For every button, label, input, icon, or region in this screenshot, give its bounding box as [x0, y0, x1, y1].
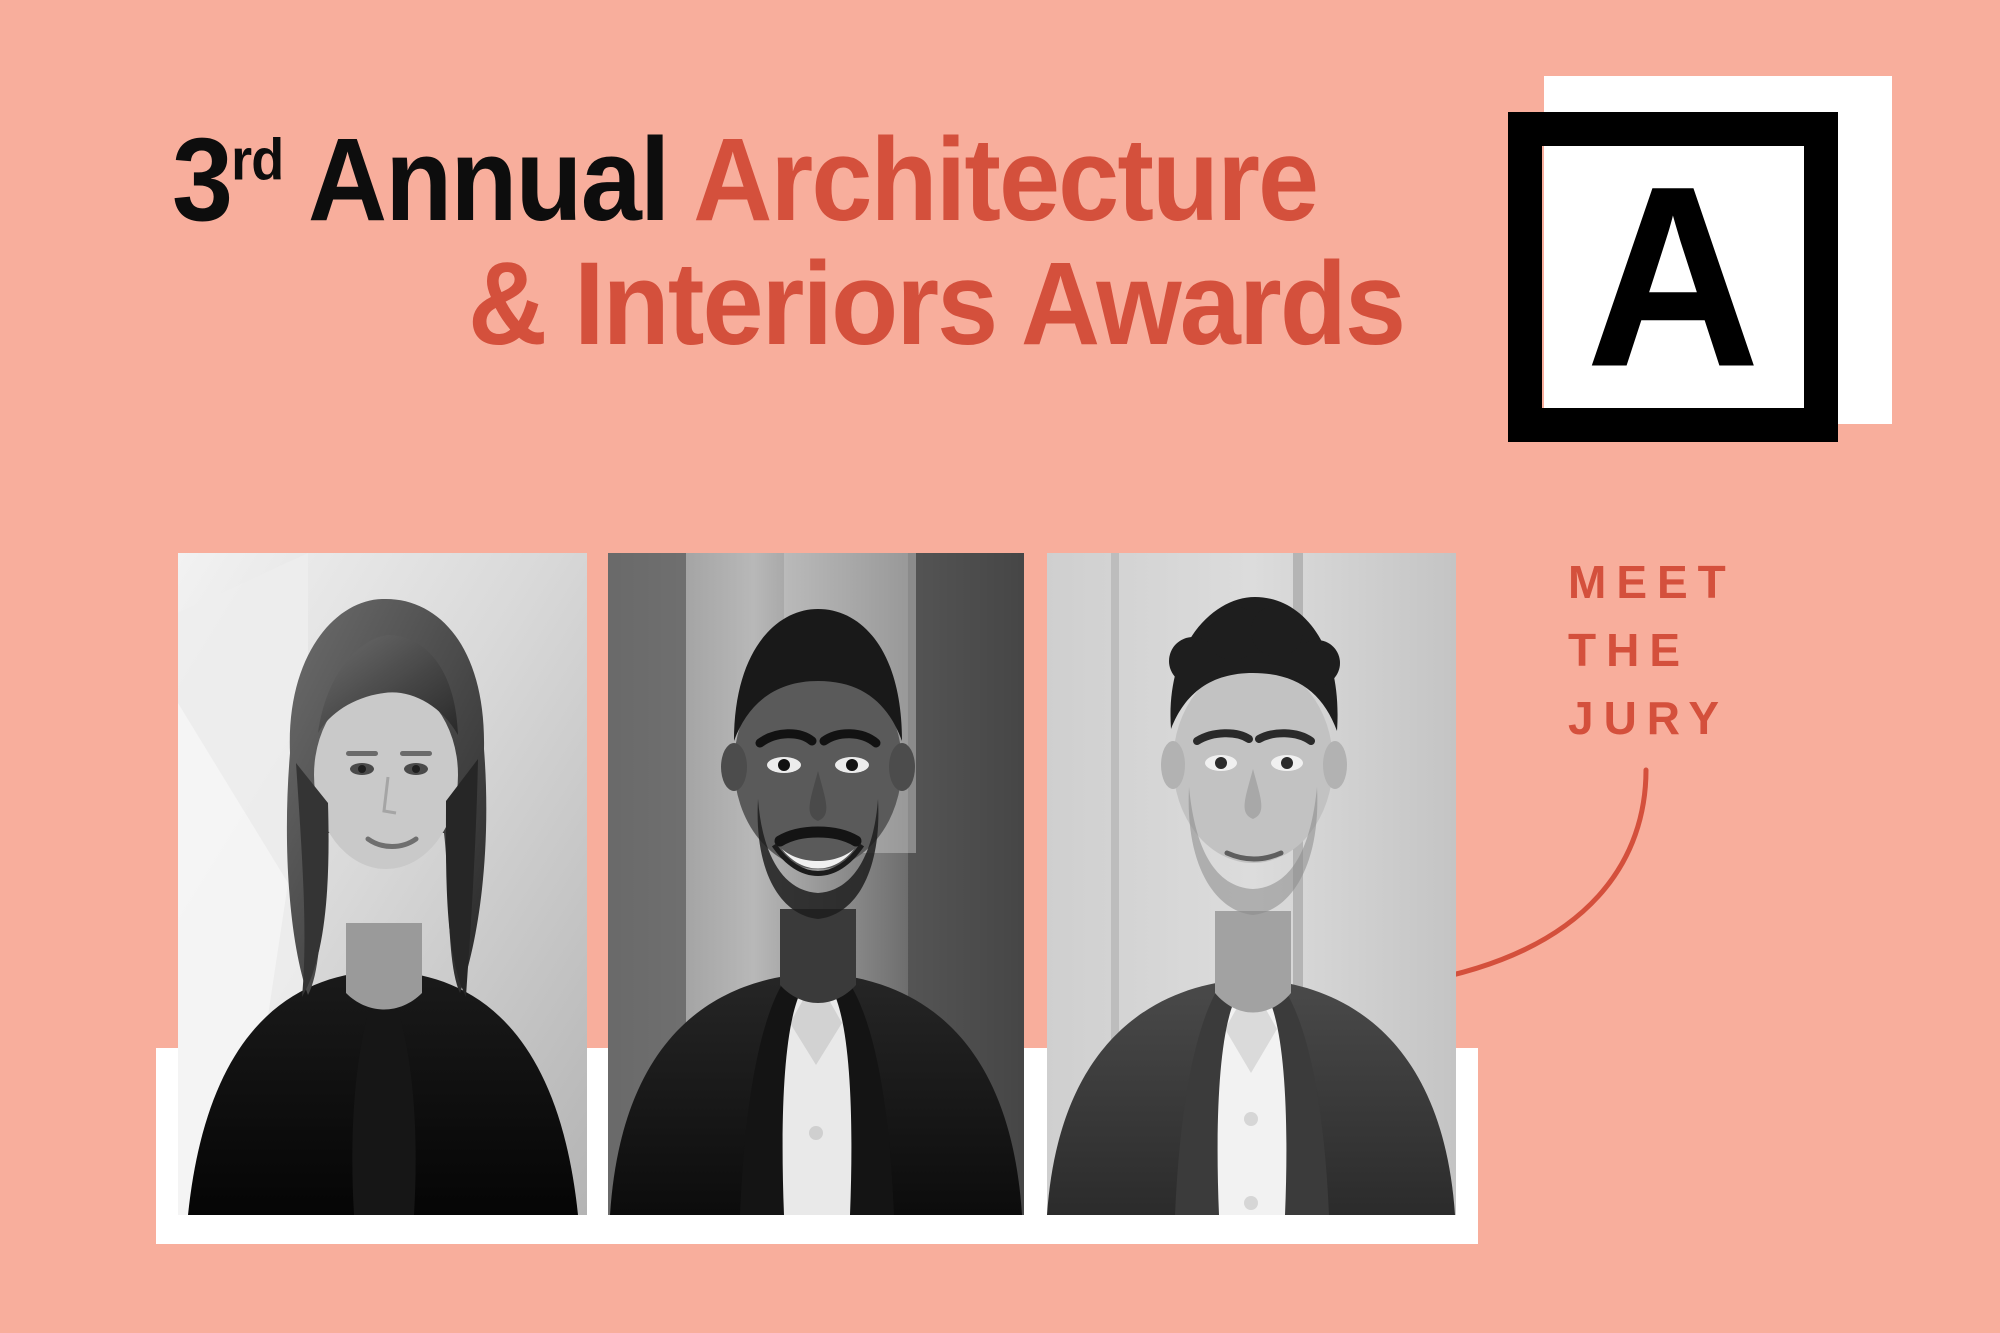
headline-ordinal-number: 3 [172, 114, 231, 246]
jury-portrait-1[interactable] [178, 553, 587, 1215]
logo-letter-a: A [1500, 92, 1847, 462]
headline-line-2: & Interiors Awards [468, 242, 1402, 366]
headline-ordinal-suffix: rd [231, 128, 283, 193]
portrait-3-image [1047, 553, 1456, 1215]
headline-word-annual: Annual [308, 114, 669, 246]
portrait-1-image [178, 553, 587, 1215]
brand-logo[interactable]: A [1508, 76, 1898, 468]
jury-portrait-3[interactable] [1047, 553, 1456, 1215]
headline-space [669, 114, 694, 246]
headline-word-architecture: Architecture [693, 114, 1317, 246]
callout-line-meet: MEET [1568, 548, 1898, 616]
callout-line-jury: JURY [1568, 684, 1898, 752]
callout-line-the: THE [1568, 616, 1898, 684]
jury-portrait-2[interactable] [608, 553, 1024, 1215]
meet-the-jury-callout: MEET THE JURY [1568, 548, 1898, 752]
headline-black-word [283, 114, 308, 246]
portrait-2-image [608, 553, 1024, 1215]
awards-jury-announcement-poster: 3rd Annual Architecture & Interiors Awar… [0, 0, 2000, 1333]
page-title: 3rd Annual Architecture & Interiors Awar… [172, 118, 1472, 366]
headline-line-1: 3rd Annual Architecture [172, 118, 1381, 242]
